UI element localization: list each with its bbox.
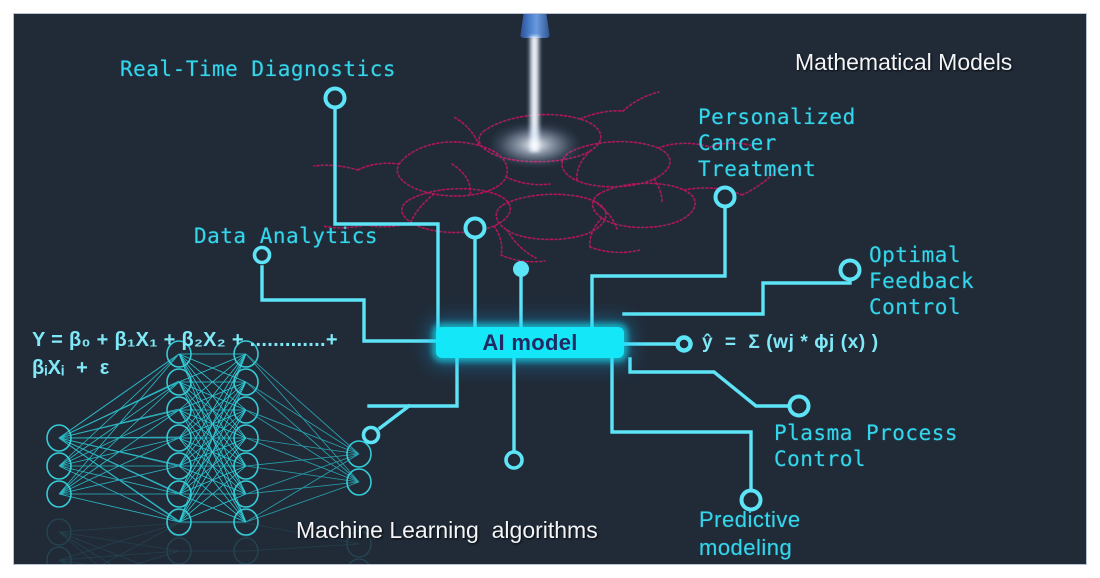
label-ppc-line2: Control	[774, 446, 958, 472]
label-optimal-feedback-control: Optimal Feedback Control	[869, 242, 974, 320]
label-pm-line1: Predictive	[699, 506, 801, 534]
label-machine-learning-algorithms: Machine Learning algorithms	[296, 517, 598, 544]
label-data-analytics: Data Analytics	[194, 223, 378, 249]
node-ml-output[interactable]	[364, 428, 379, 443]
diagram-canvas: AI model Real-Time Diagnostics Mathemati…	[0, 0, 1100, 578]
node-plasma-process-control[interactable]	[790, 397, 809, 416]
label-personalized-cancer-treatment: Personalized Cancer Treatment	[698, 104, 856, 182]
node-data-analytics[interactable]	[255, 248, 270, 263]
label-pm-line2: modeling	[699, 534, 801, 562]
label-ofc-line1: Optimal	[869, 242, 974, 268]
equation-linear-model-line1: Y = β₀ + β₁X₁ + β₂X₂ + .............+	[32, 327, 338, 354]
label-plasma-process-control: Plasma Process Control	[774, 420, 958, 472]
label-ofc-line2: Feedback	[869, 268, 974, 294]
label-ofc-line3: Control	[869, 294, 974, 320]
label-pct-line1: Personalized	[698, 104, 856, 130]
equation-linear-model-line2: βᵢXᵢ + ε	[32, 355, 110, 382]
label-pct-line3: Treatment	[698, 156, 856, 182]
label-ppc-line1: Plasma Process	[774, 420, 958, 446]
node-chip-bottom[interactable]	[506, 452, 522, 468]
equation-prediction: ŷ = Σ (wj * ϕj (x) )	[702, 332, 879, 354]
label-pct-line2: Cancer	[698, 130, 856, 156]
diagram-panel: AI model Real-Time Diagnostics Mathemati…	[13, 13, 1087, 565]
node-chip-top-filled[interactable]	[513, 261, 529, 277]
node-optimal-feedback-control[interactable]	[841, 261, 860, 280]
node-personalized-cancer-treatment[interactable]	[716, 188, 735, 207]
node-prediction-output[interactable]	[678, 338, 691, 351]
label-real-time-diagnostics: Real-Time Diagnostics	[120, 56, 396, 82]
node-real-time-diagnostics[interactable]	[326, 89, 345, 108]
ai-model-label: AI model	[482, 330, 577, 356]
node-top-center[interactable]	[466, 219, 485, 238]
label-mathematical-models: Mathematical Models	[795, 49, 1012, 76]
label-predictive-modeling: Predictive modeling	[699, 506, 801, 562]
ai-model-chip[interactable]: AI model	[436, 327, 624, 358]
